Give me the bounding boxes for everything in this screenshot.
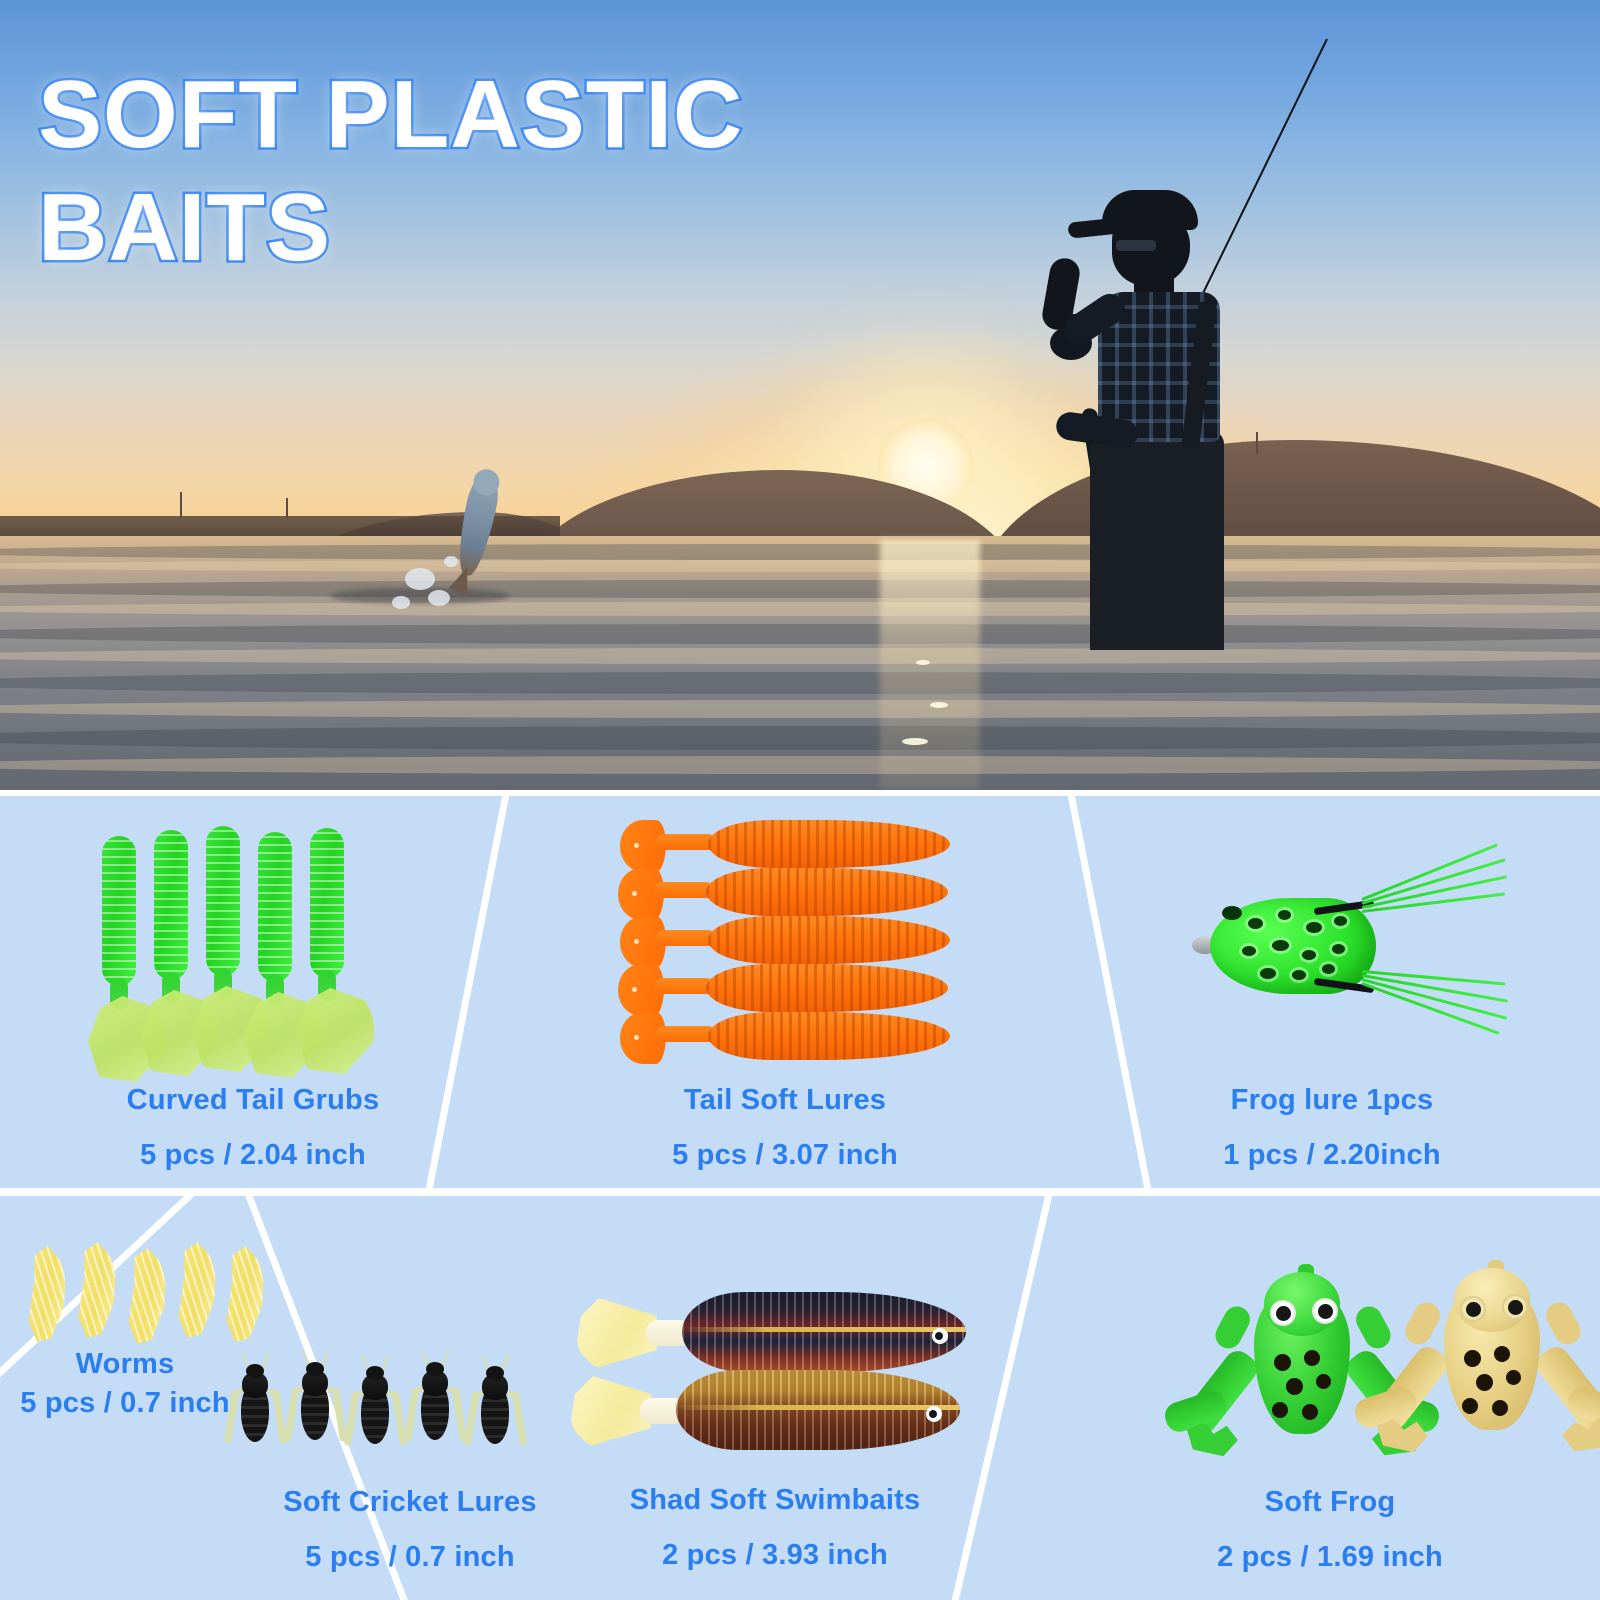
product-name: Soft Frog xyxy=(1060,1486,1600,1519)
product-name: Tail Soft Lures xyxy=(506,1084,1064,1117)
paddle-tail-lure-icon xyxy=(620,1008,950,1066)
curved-tail-grub-icon xyxy=(96,836,142,1066)
cap-icon xyxy=(1102,190,1198,230)
cricket-lure-icon xyxy=(288,1360,342,1450)
product-spec: 5 pcs / 3.07 inch xyxy=(506,1139,1064,1172)
cricket-lure-icon xyxy=(348,1364,402,1454)
product-cell-curved-tail-grubs[interactable]: Curved Tail Grubs 5 pcs / 2.04 inch xyxy=(0,796,506,1188)
product-name: Frog lure 1pcs xyxy=(1064,1084,1600,1117)
page-title: SOFT PLASTIC BAITS xyxy=(38,58,978,285)
maggot-worm-icon xyxy=(118,1248,166,1344)
cricket-lure-icon xyxy=(468,1364,522,1454)
product-row-top: Curved Tail Grubs 5 pcs / 2.04 inch xyxy=(0,796,1600,1188)
product-infographic: SOFT PLASTIC BAITS xyxy=(0,0,1600,1600)
cricket-lure-icon xyxy=(408,1360,462,1450)
fish-splash-ripple xyxy=(330,588,510,604)
product-spec: 1 pcs / 2.20inch xyxy=(1064,1139,1600,1172)
product-cell-shad-soft-swimbaits[interactable]: Shad Soft Swimbaits 2 pcs / 3.93 inch xyxy=(540,1256,1060,1596)
product-spec: 2 pcs / 1.69 inch xyxy=(1060,1541,1600,1574)
shore-tower-b xyxy=(286,498,288,518)
sunglasses-icon xyxy=(1116,240,1156,251)
maggot-worm-icon xyxy=(168,1242,216,1338)
curved-tail-grub-icon xyxy=(200,826,246,1056)
shad-swimbait-icon xyxy=(570,1368,960,1454)
sun-glitter-path xyxy=(880,540,980,790)
curved-tail-grub-icon xyxy=(304,828,350,1058)
product-name: Shad Soft Swimbaits xyxy=(540,1484,1010,1517)
product-row-bottom: Worms 5 pcs / 0.7 inch xyxy=(0,1196,1600,1600)
shad-swimbait-icon xyxy=(576,1290,966,1376)
hero-photo: SOFT PLASTIC BAITS xyxy=(0,0,1600,790)
product-cell-soft-frog[interactable]: Soft Frog 2 pcs / 1.69 inch xyxy=(1060,1196,1600,1600)
product-spec: 5 pcs / 2.04 inch xyxy=(0,1139,506,1172)
maggot-worm-icon xyxy=(18,1246,66,1342)
product-spec: 2 pcs / 3.93 inch xyxy=(540,1539,1010,1572)
product-cell-frog-lure[interactable]: Frog lure 1pcs 1 pcs / 2.20inch xyxy=(1064,796,1600,1188)
lake-water xyxy=(0,536,1600,790)
topwater-frog-lure-icon xyxy=(1174,836,1514,1046)
curved-tail-grub-icon xyxy=(252,832,298,1062)
cricket-lure-icon xyxy=(228,1362,282,1452)
product-grid: Curved Tail Grubs 5 pcs / 2.04 inch xyxy=(0,790,1600,1600)
waders xyxy=(1090,430,1224,650)
angler-silhouette xyxy=(1040,180,1300,650)
product-cell-tail-soft-lures[interactable]: Tail Soft Lures 5 pcs / 3.07 inch xyxy=(506,796,1064,1188)
maggot-worm-icon xyxy=(68,1242,116,1338)
product-name: Curved Tail Grubs xyxy=(0,1084,506,1117)
soft-frog-icon xyxy=(1382,1258,1600,1468)
curved-tail-grub-icon xyxy=(148,830,194,1060)
shore-tower-a xyxy=(180,492,182,518)
